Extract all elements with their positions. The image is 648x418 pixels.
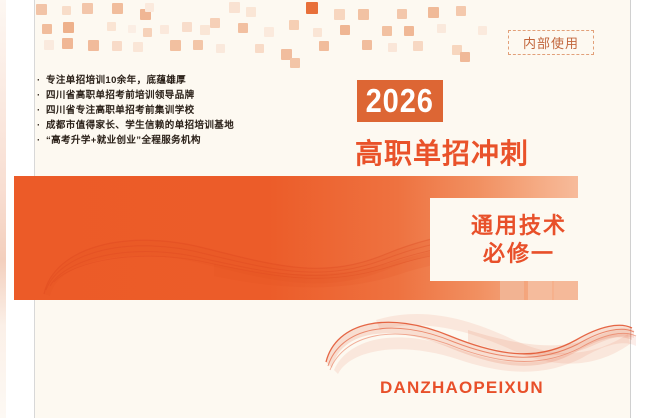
decor-square <box>145 3 154 12</box>
bullet-marker-icon: · <box>37 104 46 118</box>
decor-square <box>358 9 369 20</box>
internal-use-stamp: 内部使用 <box>508 30 594 55</box>
selling-point-item: ·成都市值得家长、学生信赖的单招培训基地 <box>37 119 337 133</box>
decor-square <box>413 41 423 51</box>
decor-square <box>143 28 152 37</box>
selling-point-text: 四川省高职单招考前培训领导品牌 <box>46 89 195 103</box>
decor-square <box>112 3 123 14</box>
decor-square <box>36 4 47 15</box>
decor-square <box>246 7 256 17</box>
decor-square <box>170 40 181 51</box>
decor-square <box>319 41 329 51</box>
decor-square <box>210 18 220 28</box>
decor-square <box>382 26 392 36</box>
decor-square <box>62 6 71 15</box>
decor-square <box>82 3 93 14</box>
decor-square <box>63 22 74 33</box>
selling-point-text: 成都市值得家长、学生信赖的单招培训基地 <box>46 119 234 133</box>
decor-square <box>128 25 136 33</box>
decor-square <box>182 22 192 32</box>
decor-square <box>107 22 116 31</box>
poster-canvas: 内部使用 ·专注单招培训10余年，底蕴雄厚·四川省高职单招考前培训领导品牌·四川… <box>0 0 648 418</box>
decor-square <box>112 41 122 51</box>
decor-square <box>313 28 322 37</box>
selling-point-item: ·四川省专注高职单招考前集训学校 <box>37 104 337 118</box>
selling-point-item: ·专注单招培训10余年，底蕴雄厚 <box>37 74 337 88</box>
bullet-marker-icon: · <box>37 74 46 88</box>
decor-square <box>289 20 299 30</box>
year-badge-value: 2026 <box>366 82 434 120</box>
subject-name: 通用技术 <box>471 212 567 240</box>
selling-point-text: 四川省专注高职单招考前集训学校 <box>46 104 195 118</box>
decor-square <box>88 40 99 51</box>
year-badge: 2026 <box>357 80 443 122</box>
decor-square <box>388 43 397 52</box>
decor-square <box>478 26 487 35</box>
decor-square <box>62 38 73 49</box>
decor-square <box>456 6 466 16</box>
bullet-marker-icon: · <box>37 134 46 148</box>
decor-square <box>397 9 407 19</box>
decor-square <box>404 26 414 36</box>
decor-square <box>264 27 274 37</box>
decor-square <box>460 52 470 62</box>
decor-square <box>42 24 52 34</box>
decor-square <box>428 7 439 18</box>
decor-square <box>44 40 54 50</box>
selling-point-item: ·“高考升学+就业创业”全程服务机构 <box>37 134 337 148</box>
decor-square <box>290 58 300 68</box>
decor-square <box>133 42 143 52</box>
subject-card: 通用技术 必修一 <box>430 198 608 281</box>
decor-square <box>362 40 372 50</box>
decor-square <box>160 25 169 34</box>
decor-square <box>255 44 264 53</box>
decor-square <box>437 24 446 33</box>
decor-square <box>306 2 318 14</box>
selling-points-list: ·专注单招培训10余年，底蕴雄厚·四川省高职单招考前培训领导品牌·四川省专注高职… <box>37 74 337 149</box>
decor-square <box>340 25 350 35</box>
decor-square <box>334 9 345 20</box>
brand-pinyin: DANZHAOPEIXUN <box>380 378 544 398</box>
ribbon-wave-graphic <box>318 300 638 378</box>
bullet-marker-icon: · <box>37 119 46 133</box>
page-title: 高职单招冲刺 <box>355 132 529 172</box>
decor-square <box>229 2 240 13</box>
selling-point-text: 专注单招培训10余年，底蕴雄厚 <box>46 74 186 88</box>
decor-square <box>238 23 248 33</box>
decor-square <box>193 40 203 50</box>
selling-point-text: “高考升学+就业创业”全程服务机构 <box>46 134 201 148</box>
selling-point-item: ·四川省高职单招考前培训领导品牌 <box>37 89 337 103</box>
subject-volume: 必修一 <box>483 240 555 268</box>
decor-square <box>216 44 225 53</box>
decor-square <box>200 25 210 35</box>
bullet-marker-icon: · <box>37 89 46 103</box>
internal-use-stamp-label: 内部使用 <box>523 33 579 52</box>
